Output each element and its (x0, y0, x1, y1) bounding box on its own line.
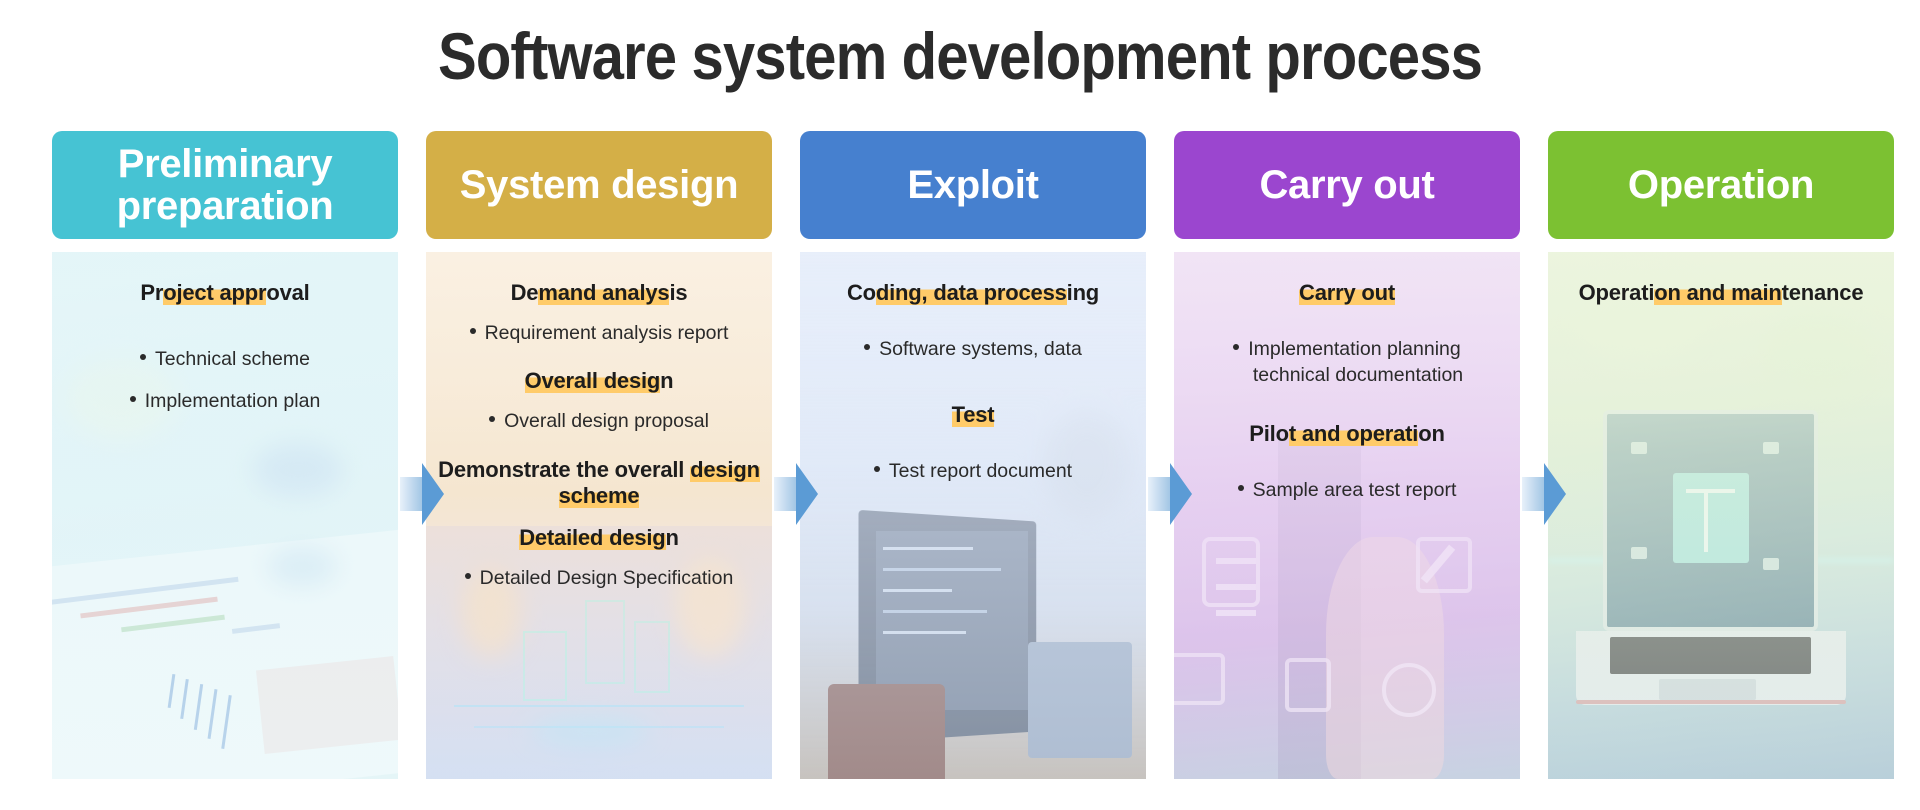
stage-body-operation: Operation and maintenance (1548, 252, 1894, 779)
block-heading: Operation and maintenance (1556, 280, 1886, 306)
bullet-list: Software systems, data (800, 336, 1146, 363)
block-heading: Coding, data processing (808, 280, 1138, 306)
stage-column-preliminary-preparation: Preliminary preparation (52, 131, 398, 779)
bullet-dot-icon (1238, 485, 1244, 491)
stage-header-label: Preliminary preparation (62, 143, 388, 228)
arrow-shaft (1522, 477, 1546, 511)
bullet-list: Sample area test report (1174, 477, 1520, 504)
list-item: Detailed Design Specification (426, 565, 772, 592)
stage-column-system-design: System design Demand analysis (426, 131, 772, 779)
arrow-head-icon (796, 463, 818, 525)
stage-header-exploit[interactable]: Exploit (800, 131, 1146, 239)
slide-canvas: Software system development process Prel… (0, 0, 1920, 810)
arrow-head-icon (1170, 463, 1192, 525)
list-item: Implementation planning technical docume… (1174, 336, 1520, 389)
bullet-dot-icon (465, 573, 471, 579)
photo-laptop-network (1548, 252, 1894, 779)
arrow-1-2 (400, 463, 444, 525)
bullet-list: Test report document (800, 458, 1146, 485)
arrow-shaft (774, 477, 798, 511)
list-item: Implementation plan (52, 388, 398, 415)
stage-body-carry-out: Carry out Implementation planning techni… (1174, 252, 1520, 779)
bullet-dot-icon (1233, 344, 1239, 350)
list-item: Software systems, data (800, 336, 1146, 363)
stage-column-carry-out: Carry out Carry out (1174, 131, 1520, 779)
bullet-dot-icon (864, 344, 870, 350)
block-heading: Pilot and operation (1182, 421, 1512, 447)
stage-column-exploit: Exploit Coding, data processing (800, 131, 1146, 779)
block-heading: Carry out (1182, 280, 1512, 306)
bullet-list: Technical scheme Implementation plan (52, 346, 398, 415)
list-item: Test report document (800, 458, 1146, 485)
stage-header-system-design[interactable]: System design (426, 131, 772, 239)
bullet-dot-icon (140, 354, 146, 360)
bullet-dot-icon (874, 466, 880, 472)
stage-body-system-design: Demand analysis Requirement analysis rep… (426, 252, 772, 779)
bullet-list: Requirement analysis report (426, 320, 772, 347)
bullet-list: Implementation planning technical docume… (1174, 336, 1520, 389)
stage-header-label: System design (460, 164, 738, 206)
stage-header-preliminary-preparation[interactable]: Preliminary preparation (52, 131, 398, 239)
stage-header-label: Operation (1628, 164, 1814, 206)
page-title: Software system development process (115, 18, 1805, 94)
block-heading: Test (808, 402, 1138, 428)
bullet-dot-icon (130, 396, 136, 402)
arrow-3-4 (1148, 463, 1192, 525)
block-heading: Demonstrate the overall design scheme (434, 457, 764, 509)
arrow-2-3 (774, 463, 818, 525)
stage-body-preliminary-preparation: Project approval Technical scheme Implem… (52, 252, 398, 779)
block-heading: Overall design (434, 368, 764, 394)
stage-header-operation[interactable]: Operation (1548, 131, 1894, 239)
list-item: Overall design proposal (426, 408, 772, 435)
list-item: Requirement analysis report (426, 320, 772, 347)
arrow-shaft (400, 477, 424, 511)
stage-header-label: Exploit (907, 164, 1038, 206)
list-item: Technical scheme (52, 346, 398, 373)
bullet-list: Overall design proposal (426, 408, 772, 435)
bullet-dot-icon (470, 328, 476, 334)
bullet-dot-icon (489, 416, 495, 422)
block-heading: Project approval (60, 280, 390, 306)
arrow-shaft (1148, 477, 1172, 511)
arrow-head-icon (1544, 463, 1566, 525)
stage-body-exploit: Coding, data processing Software systems… (800, 252, 1146, 779)
arrow-4-5 (1522, 463, 1566, 525)
block-heading: Demand analysis (434, 280, 764, 306)
list-item: Sample area test report (1174, 477, 1520, 504)
stage-header-label: Carry out (1259, 164, 1434, 206)
stage-header-carry-out[interactable]: Carry out (1174, 131, 1520, 239)
stage-column-operation: Operation (1548, 131, 1894, 779)
bullet-list: Detailed Design Specification (426, 565, 772, 592)
block-heading: Detailed design (434, 525, 764, 551)
arrow-head-icon (422, 463, 444, 525)
